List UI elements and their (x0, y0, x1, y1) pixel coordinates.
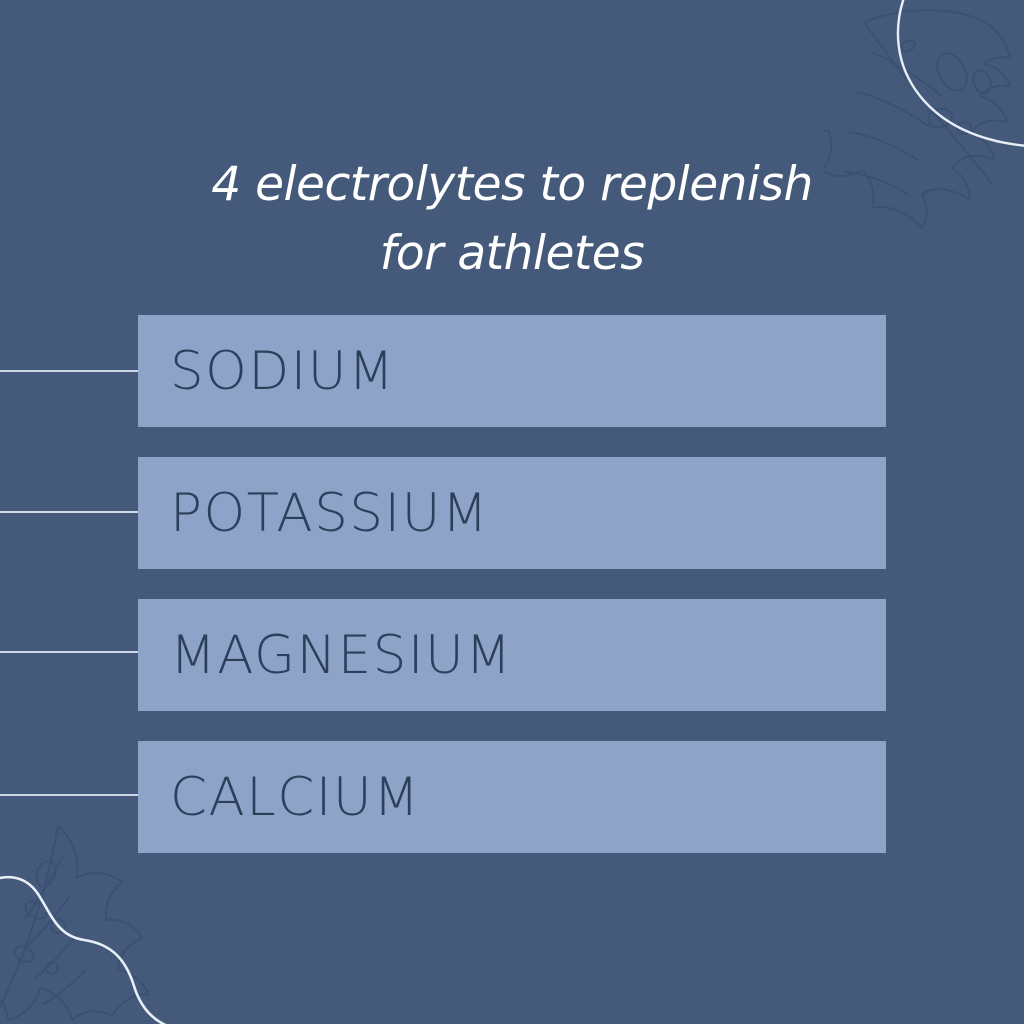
list-item[interactable]: POTASSIUM (138, 457, 886, 569)
electrolyte-label-magnesium: MAGNESIUM (138, 629, 513, 682)
poster-title: 4 electrolytes to replenish for athletes (0, 150, 1024, 288)
electrolyte-list: SODIUM POTASSIUM MAGNESIUM CALCIUM (138, 315, 886, 853)
poster-canvas: 4 electrolytes to replenish for athletes… (0, 0, 1024, 1024)
electrolyte-label-sodium: SODIUM (138, 345, 395, 398)
list-item[interactable]: MAGNESIUM (138, 599, 886, 711)
electrolyte-label-potassium: POTASSIUM (138, 487, 489, 540)
list-item[interactable]: SODIUM (138, 315, 886, 427)
connector-line-calcium (0, 794, 140, 796)
connector-line-potassium (0, 511, 140, 513)
electrolyte-label-calcium: CALCIUM (138, 771, 420, 824)
title-line-2: for athletes (0, 219, 1024, 288)
title-line-1: 4 electrolytes to replenish (0, 150, 1024, 219)
connector-line-sodium (0, 370, 140, 372)
connector-line-magnesium (0, 651, 140, 653)
list-item[interactable]: CALCIUM (138, 741, 886, 853)
